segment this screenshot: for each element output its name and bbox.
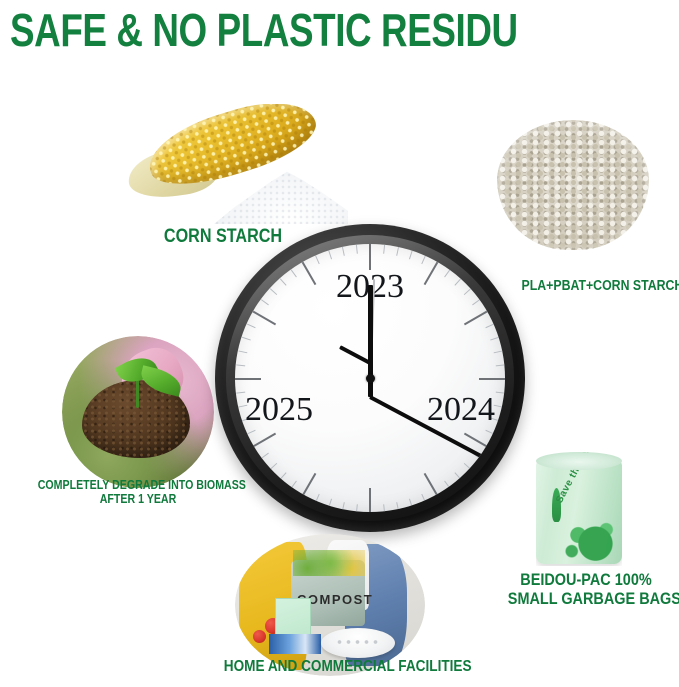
clock-minute-tick	[246, 324, 255, 329]
clock-minute-tick	[396, 502, 399, 511]
clock-hour-tick	[464, 433, 488, 448]
caption-line: COMPLETELY DEGRADE INTO BIOMASS	[38, 478, 239, 492]
clock-minute-tick	[444, 481, 450, 489]
clock-hour-tick	[253, 311, 277, 326]
clock-minute-tick	[493, 350, 502, 353]
clock-minute-tick	[328, 499, 332, 508]
caption-pla-pbat-corn-starch: PLA+PBAT+CORN STARCH	[522, 278, 675, 294]
pla-pbat-pellets-photo	[497, 120, 649, 250]
clock-hour-tick	[424, 473, 439, 497]
clock-minute-tick	[383, 245, 385, 254]
clock-minute-tick	[236, 364, 245, 366]
degrade-biomass-photo	[62, 336, 214, 488]
garbage-bag-roll-photo: Save the Future	[536, 452, 622, 566]
home-commercial-photo: COMPOST	[235, 534, 425, 676]
clock-minute-tick	[383, 504, 385, 512]
caption-degrade-biomass: COMPLETELY DEGRADE INTO BIOMASS AFTER 1 …	[38, 478, 239, 506]
corn-starch-photo	[128, 104, 348, 224]
clock-minute-tick	[290, 481, 296, 489]
clock-minute-tick	[408, 250, 412, 259]
caption-line: HOME AND COMMERCIAL FACILITIES	[224, 658, 437, 676]
clock-minute-tick	[355, 504, 357, 512]
clock-minute-tick	[463, 463, 470, 470]
food-scraps-shape	[293, 550, 365, 576]
compost-scene-background: COMPOST	[235, 534, 425, 676]
clock-minute-tick	[241, 337, 250, 341]
product-package-band-shape	[269, 634, 321, 654]
clock-minute-tick	[315, 494, 320, 503]
clock-center-hub	[366, 374, 375, 383]
seedling-stem	[136, 380, 139, 408]
pellet-pile-shape	[497, 120, 649, 250]
clock-year-2024: 2024	[415, 391, 505, 429]
clock-dial: 2023 2024 2025	[235, 244, 505, 512]
roll-print-artwork	[562, 508, 616, 562]
clock-minute-tick	[269, 463, 276, 470]
clock-hour-tick	[369, 488, 371, 512]
caption-line: PLA+PBAT+CORN STARCH	[522, 278, 675, 294]
clock-minute-tick	[408, 499, 412, 508]
clock-minute-tick	[454, 472, 461, 479]
page-title: SAFE & NO PLASTIC RESIDU	[10, 4, 518, 56]
clock-minute-tick	[260, 453, 268, 459]
clock-year-2025: 2025	[235, 391, 325, 429]
clock-minute-tick	[421, 255, 426, 264]
tomato-shape	[253, 630, 266, 643]
clock-hour-tick	[369, 244, 371, 270]
clock-minute-tick	[495, 364, 504, 366]
infographic-canvas: SAFE & NO PLASTIC RESIDU CORN STARCH PLA…	[0, 0, 679, 687]
clock-minute-tick	[490, 337, 499, 341]
clock-minute-tick	[485, 430, 494, 435]
clock-minute-tick	[315, 255, 320, 264]
clock-minute-tick	[341, 502, 344, 511]
clock-minute-tick	[485, 324, 494, 329]
clock-hour-tick	[302, 473, 317, 497]
roll-top-opening	[536, 452, 622, 470]
clock-minute-tick	[341, 247, 344, 256]
clock-hour-tick	[464, 311, 488, 326]
clock-minute-tick	[238, 350, 247, 353]
clock-hour-tick	[253, 433, 277, 448]
caption-beidou-pac-bags: BEIDOU-PAC 100% SMALL GARBAGE BAGS	[508, 570, 664, 608]
caption-line: AFTER 1 YEAR	[38, 492, 239, 506]
clock-minute-tick	[279, 472, 286, 479]
caption-line: BEIDOU-PAC 100%	[508, 570, 664, 589]
clock-hour-tick	[235, 378, 261, 380]
clock-minute-tick	[421, 494, 426, 503]
roll-body-shape: Save the Future	[536, 460, 622, 564]
clock-hour-tick	[479, 378, 505, 380]
compost-bin-lid-shape	[321, 628, 395, 658]
clock-minute-tick	[396, 247, 399, 256]
clock-minute-tick	[328, 250, 332, 259]
clock-minute-tick	[246, 430, 255, 435]
year-clock: 2023 2024 2025	[215, 224, 525, 532]
caption-line: SMALL GARBAGE BAGS	[508, 589, 664, 608]
clock-minute-tick	[355, 245, 357, 254]
caption-home-commercial: HOME AND COMMERCIAL FACILITIES	[224, 658, 437, 676]
